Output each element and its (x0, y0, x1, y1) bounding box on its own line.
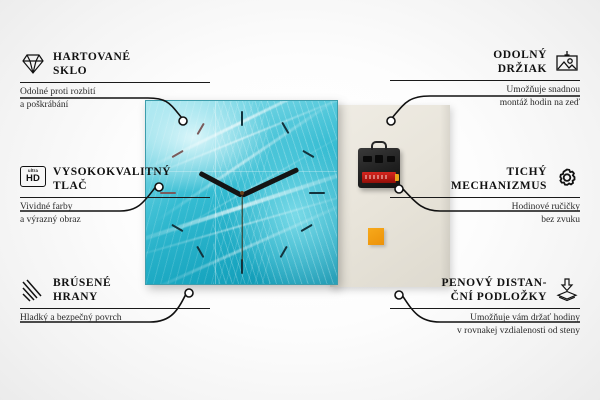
feature-rule (20, 308, 210, 309)
feature-durable-hanger[interactable]: ODOLNÝ DRŽIAK Umožňuje snadnou montáž ho… (390, 48, 580, 109)
ground-edges-icon (20, 277, 46, 303)
mechanism-hanger-icon (371, 141, 387, 150)
feature-ground-edges[interactable]: BRÚSENÉ HRANY Hladký a bezpečný povrch (20, 276, 210, 325)
mechanism-slot (375, 155, 383, 163)
feature-description: Umožňuje snadnou montáž hodin na zeď (390, 84, 580, 109)
feature-foam-spacers[interactable]: PENOVÝ DISTAN- ČNÍ PODLOŽKY Umožňuje vám… (390, 276, 580, 337)
mechanism-slot (363, 156, 372, 162)
feature-rule (20, 197, 210, 198)
clock-second-hand (241, 194, 242, 260)
feature-rule (390, 80, 580, 81)
feature-rule (390, 197, 580, 198)
infographic-canvas: HARTOVANÉ SKLO Odolné proti rozbití a po… (0, 0, 600, 400)
feature-silent-mechanism[interactable]: TICHÝ MECHANIZMUS Hodinové ručičky bez z… (390, 165, 580, 226)
feature-description: Odolné proti rozbití a poškrábání (20, 86, 210, 111)
feature-description: Vividné farby a výrazný obraz (20, 201, 210, 226)
feature-description: Umožňuje vám držať hodiny v rovnakej vzd… (390, 312, 580, 337)
clock-center-pivot (240, 191, 244, 195)
mechanism-slot (387, 156, 395, 162)
feature-rule (390, 308, 580, 309)
picture-hanger-icon (554, 49, 580, 75)
feature-title: BRÚSENÉ HRANY (53, 276, 111, 304)
clock-tick-12 (241, 111, 243, 126)
diamond-icon (20, 51, 46, 77)
foam-spacer-pad (368, 228, 384, 245)
feature-tempered-glass[interactable]: HARTOVANÉ SKLO Odolné proti rozbití a po… (20, 50, 210, 111)
feature-title: HARTOVANÉ SKLO (53, 50, 131, 78)
gear-icon (554, 166, 580, 192)
feature-title: ODOLNÝ DRŽIAK (493, 48, 547, 76)
feature-description: Hodinové ručičky bez zvuku (390, 201, 580, 226)
feature-rule (20, 82, 210, 83)
ultra-hd-badge-icon: ultra HD (20, 166, 46, 192)
feature-title: TICHÝ MECHANIZMUS (451, 165, 547, 193)
feature-title: VYSOKOKVALITNÝ TLAČ (53, 165, 171, 193)
hd-badge-large-text: HD (26, 174, 40, 184)
feature-title: PENOVÝ DISTAN- ČNÍ PODLOŽKY (441, 276, 547, 304)
foam-spacer-icon (554, 277, 580, 303)
feature-high-quality-print[interactable]: ultra HD VYSOKOKVALITNÝ TLAČ Vividné far… (20, 165, 210, 226)
feature-description: Hladký a bezpečný povrch (20, 312, 210, 325)
clock-tick-6 (241, 259, 243, 274)
